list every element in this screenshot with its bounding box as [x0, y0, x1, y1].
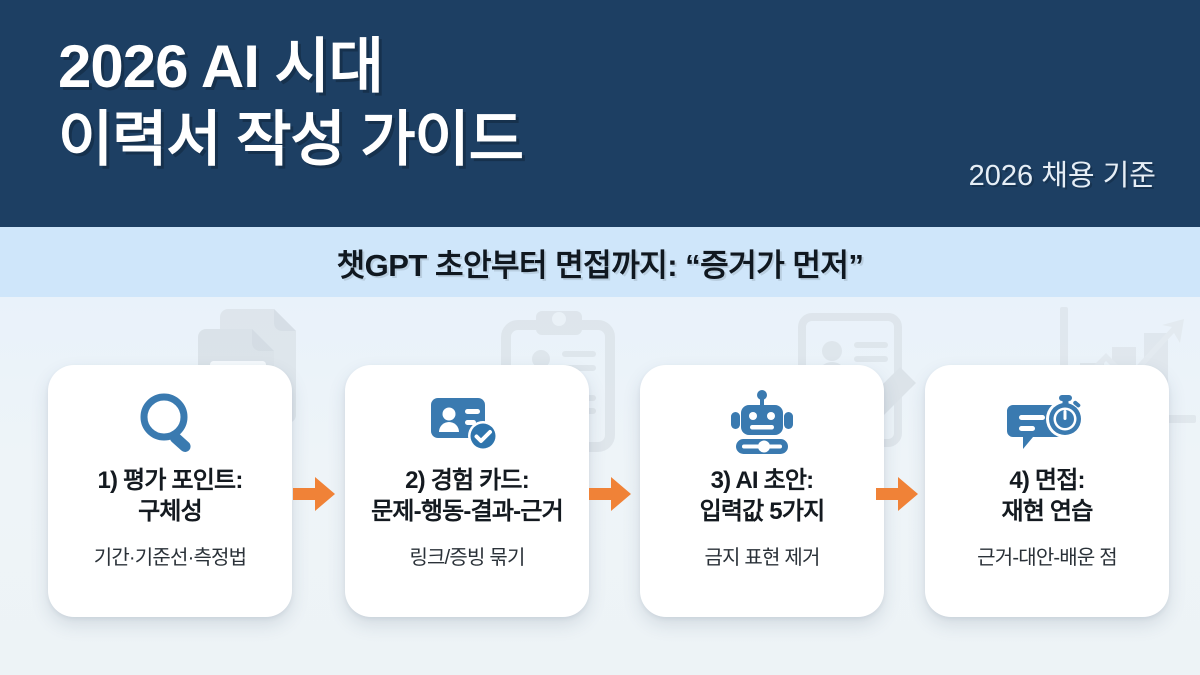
step-card-4-title: 4) 면접: 재현 연습: [1002, 465, 1093, 527]
step-card-4-title-line1: 4) 면접:: [1009, 467, 1084, 494]
header-badge: 2026 채용 기준: [969, 152, 1156, 194]
step-card-3-title-line1: 3) AI 초안:: [711, 467, 814, 494]
step-card-3-title-line2: 입력값 5가지: [700, 496, 825, 527]
step-card-2-title: 2) 경험 카드: 문제-행동-결과-근거: [371, 465, 563, 527]
step-card-1-title-line2: 구체성: [97, 496, 242, 527]
step-card-3[interactable]: 3) AI 초안: 입력값 5가지 금지 표현 제거: [640, 365, 884, 617]
arrow-right-icon-2: [587, 472, 635, 516]
content-area: 1) 평가 포인트: 구체성 기간·기준선·측정법: [0, 297, 1200, 675]
step-card-2-title-line1: 2) 경험 카드:: [405, 467, 529, 494]
subtitle-band: 챗GPT 초안부터 면접까지: “증거가 먼저”: [0, 227, 1200, 297]
arrow-right-icon-3: [874, 472, 922, 516]
id-card-check-icon: [429, 389, 505, 457]
step-card-3-title: 3) AI 초안: 입력값 5가지: [700, 465, 825, 527]
robot-icon: [724, 389, 800, 457]
step-card-4-subtitle: 근거-대안-배운 점: [977, 541, 1117, 570]
infographic-slide: 2026 AI 시대 이력서 작성 가이드 2026 채용 기준 챗GPT 초안…: [0, 0, 1200, 675]
step-card-1-subtitle: 기간·기준선·측정법: [94, 541, 247, 570]
speech-stopwatch-icon: [1007, 389, 1087, 457]
step-card-2-title-line2: 문제-행동-결과-근거: [371, 496, 563, 527]
step-card-2-subtitle: 링크/증빙 묶기: [409, 541, 524, 570]
title-line-1: 2026 AI 시대: [58, 30, 523, 103]
step-card-3-subtitle: 금지 표현 제거: [704, 541, 819, 570]
title-line-2: 이력서 작성 가이드: [58, 103, 523, 176]
step-card-row: 1) 평가 포인트: 구체성 기간·기준선·측정법: [0, 297, 1200, 675]
page-title: 2026 AI 시대 이력서 작성 가이드: [58, 30, 523, 176]
step-card-1-title: 1) 평가 포인트: 구체성: [97, 465, 242, 527]
arrow-right-icon-1: [291, 472, 339, 516]
subtitle-text: 챗GPT 초안부터 면접까지: “증거가 먼저”: [337, 240, 864, 285]
header-banner: 2026 AI 시대 이력서 작성 가이드 2026 채용 기준: [0, 0, 1200, 227]
step-card-4[interactable]: 4) 면접: 재현 연습 근거-대안-배운 점: [925, 365, 1169, 617]
step-card-1-title-line1: 1) 평가 포인트:: [97, 467, 242, 494]
header-inner: 2026 AI 시대 이력서 작성 가이드 2026 채용 기준: [0, 0, 1200, 227]
step-card-4-title-line2: 재현 연습: [1002, 496, 1093, 527]
step-card-1[interactable]: 1) 평가 포인트: 구체성 기간·기준선·측정법: [48, 365, 292, 617]
step-card-2[interactable]: 2) 경험 카드: 문제-행동-결과-근거 링크/증빙 묶기: [345, 365, 589, 617]
magnifier-icon: [133, 389, 207, 457]
